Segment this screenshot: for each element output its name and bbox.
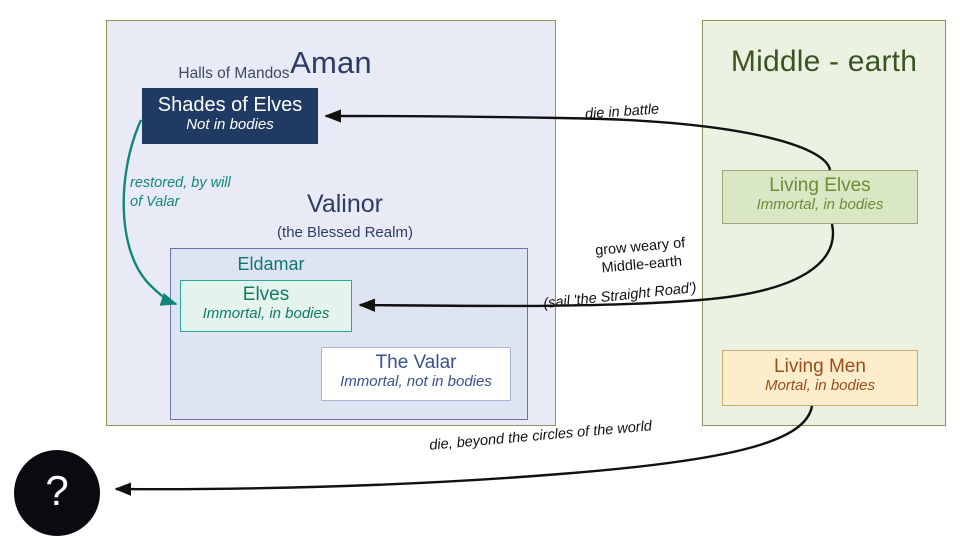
diagram-canvas: Aman Middle - earth Valinor (the Blessed… — [0, 0, 960, 540]
edge-restored-by-will-of-valar — [124, 120, 176, 304]
edge-die-in-battle — [326, 116, 830, 170]
arrow-layer: Shades of Elves : "die in battle" --> El… — [0, 0, 960, 540]
edge-label-restored-by-will-of-valar: restored, by will of Valar — [130, 174, 240, 212]
